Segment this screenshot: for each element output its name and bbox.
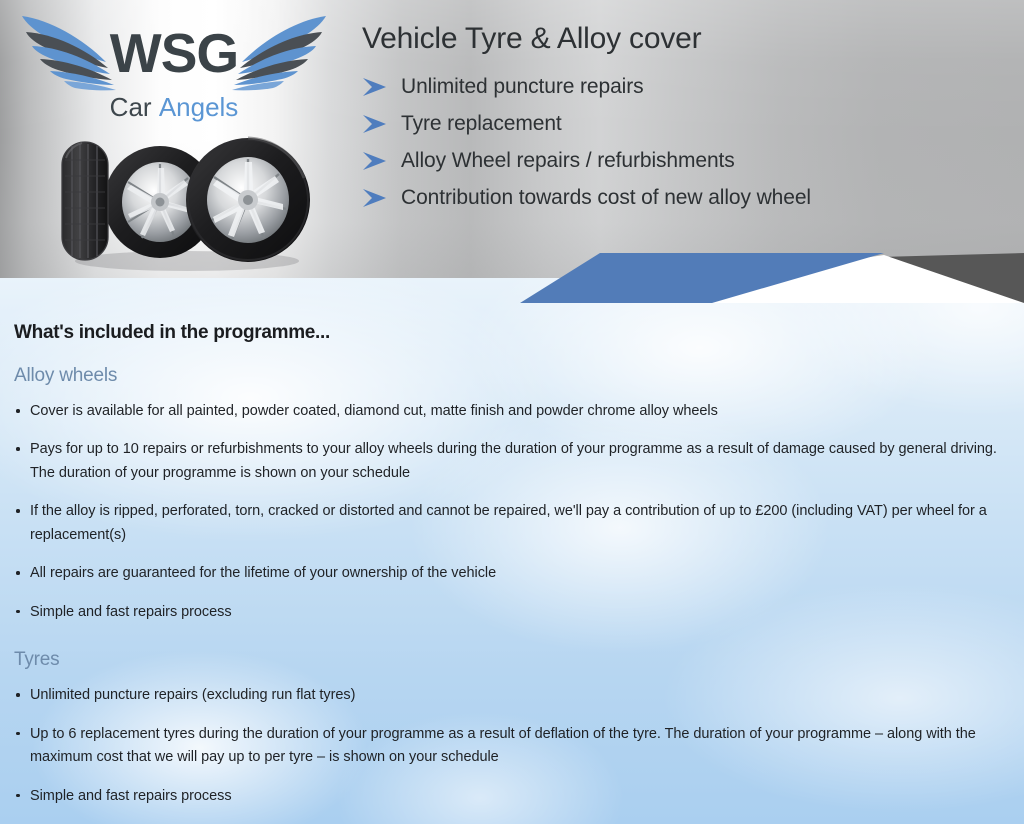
header-copy: Vehicle Tyre & Alloy cover Unlimited pun… [362, 22, 1012, 216]
tyres-list: Unlimited puncture repairs (excluding ru… [14, 684, 1010, 808]
section-heading-tyres: Tyres [14, 649, 1010, 671]
list-item: Unlimited puncture repairs (excluding ru… [14, 684, 1010, 707]
alloy-wheels-list: Cover is available for all painted, powd… [14, 400, 1010, 624]
list-item: Pays for up to 10 repairs or refurbishme… [14, 438, 1010, 485]
chevron-right-icon [362, 188, 390, 208]
programme-content: What's included in the programme... Allo… [0, 278, 1024, 824]
list-item: Up to 6 replacement tyres during the dur… [14, 723, 1010, 770]
header-bullet: Unlimited puncture repairs [362, 68, 1012, 105]
header-bullet: Alloy Wheel repairs / refurbishments [362, 142, 1012, 179]
header-bullet-label: Alloy Wheel repairs / refurbishments [401, 149, 735, 173]
logo-subtitle: Car Angels [14, 94, 334, 120]
logo-subtitle-angels: Angels [159, 92, 239, 122]
page-title: Vehicle Tyre & Alloy cover [362, 22, 1012, 56]
header-banner: WSG Car Angels [0, 0, 1024, 278]
list-item: All repairs are guaranteed for the lifet… [14, 562, 1010, 585]
chevron-right-icon [362, 77, 390, 97]
list-item: Simple and fast repairs process [14, 785, 1010, 808]
tyres-and-alloy-wheels-image [52, 128, 312, 273]
header-bullet-label: Tyre replacement [401, 112, 562, 136]
section-heading-alloy-wheels: Alloy wheels [14, 365, 1010, 387]
header-bullet-label: Contribution towards cost of new alloy w… [401, 186, 811, 210]
chevron-right-icon [362, 114, 390, 134]
header-bullet-label: Unlimited puncture repairs [401, 75, 644, 99]
logo-subtitle-car: Car [110, 92, 152, 122]
list-item: Simple and fast repairs process [14, 601, 1010, 624]
brand-logo: WSG Car Angels [14, 8, 334, 138]
chevron-right-icon [362, 151, 390, 171]
list-item: Cover is available for all painted, powd… [14, 400, 1010, 423]
logo-wordmark: WSG [14, 26, 334, 81]
section-title-included: What's included in the programme... [14, 322, 1010, 344]
header-bullet: Tyre replacement [362, 105, 1012, 142]
header-bullet: Contribution towards cost of new alloy w… [362, 179, 1012, 216]
list-item: If the alloy is ripped, perforated, torn… [14, 500, 1010, 547]
tyre-alloy-cover-page: WSG Car Angels [0, 0, 1024, 824]
